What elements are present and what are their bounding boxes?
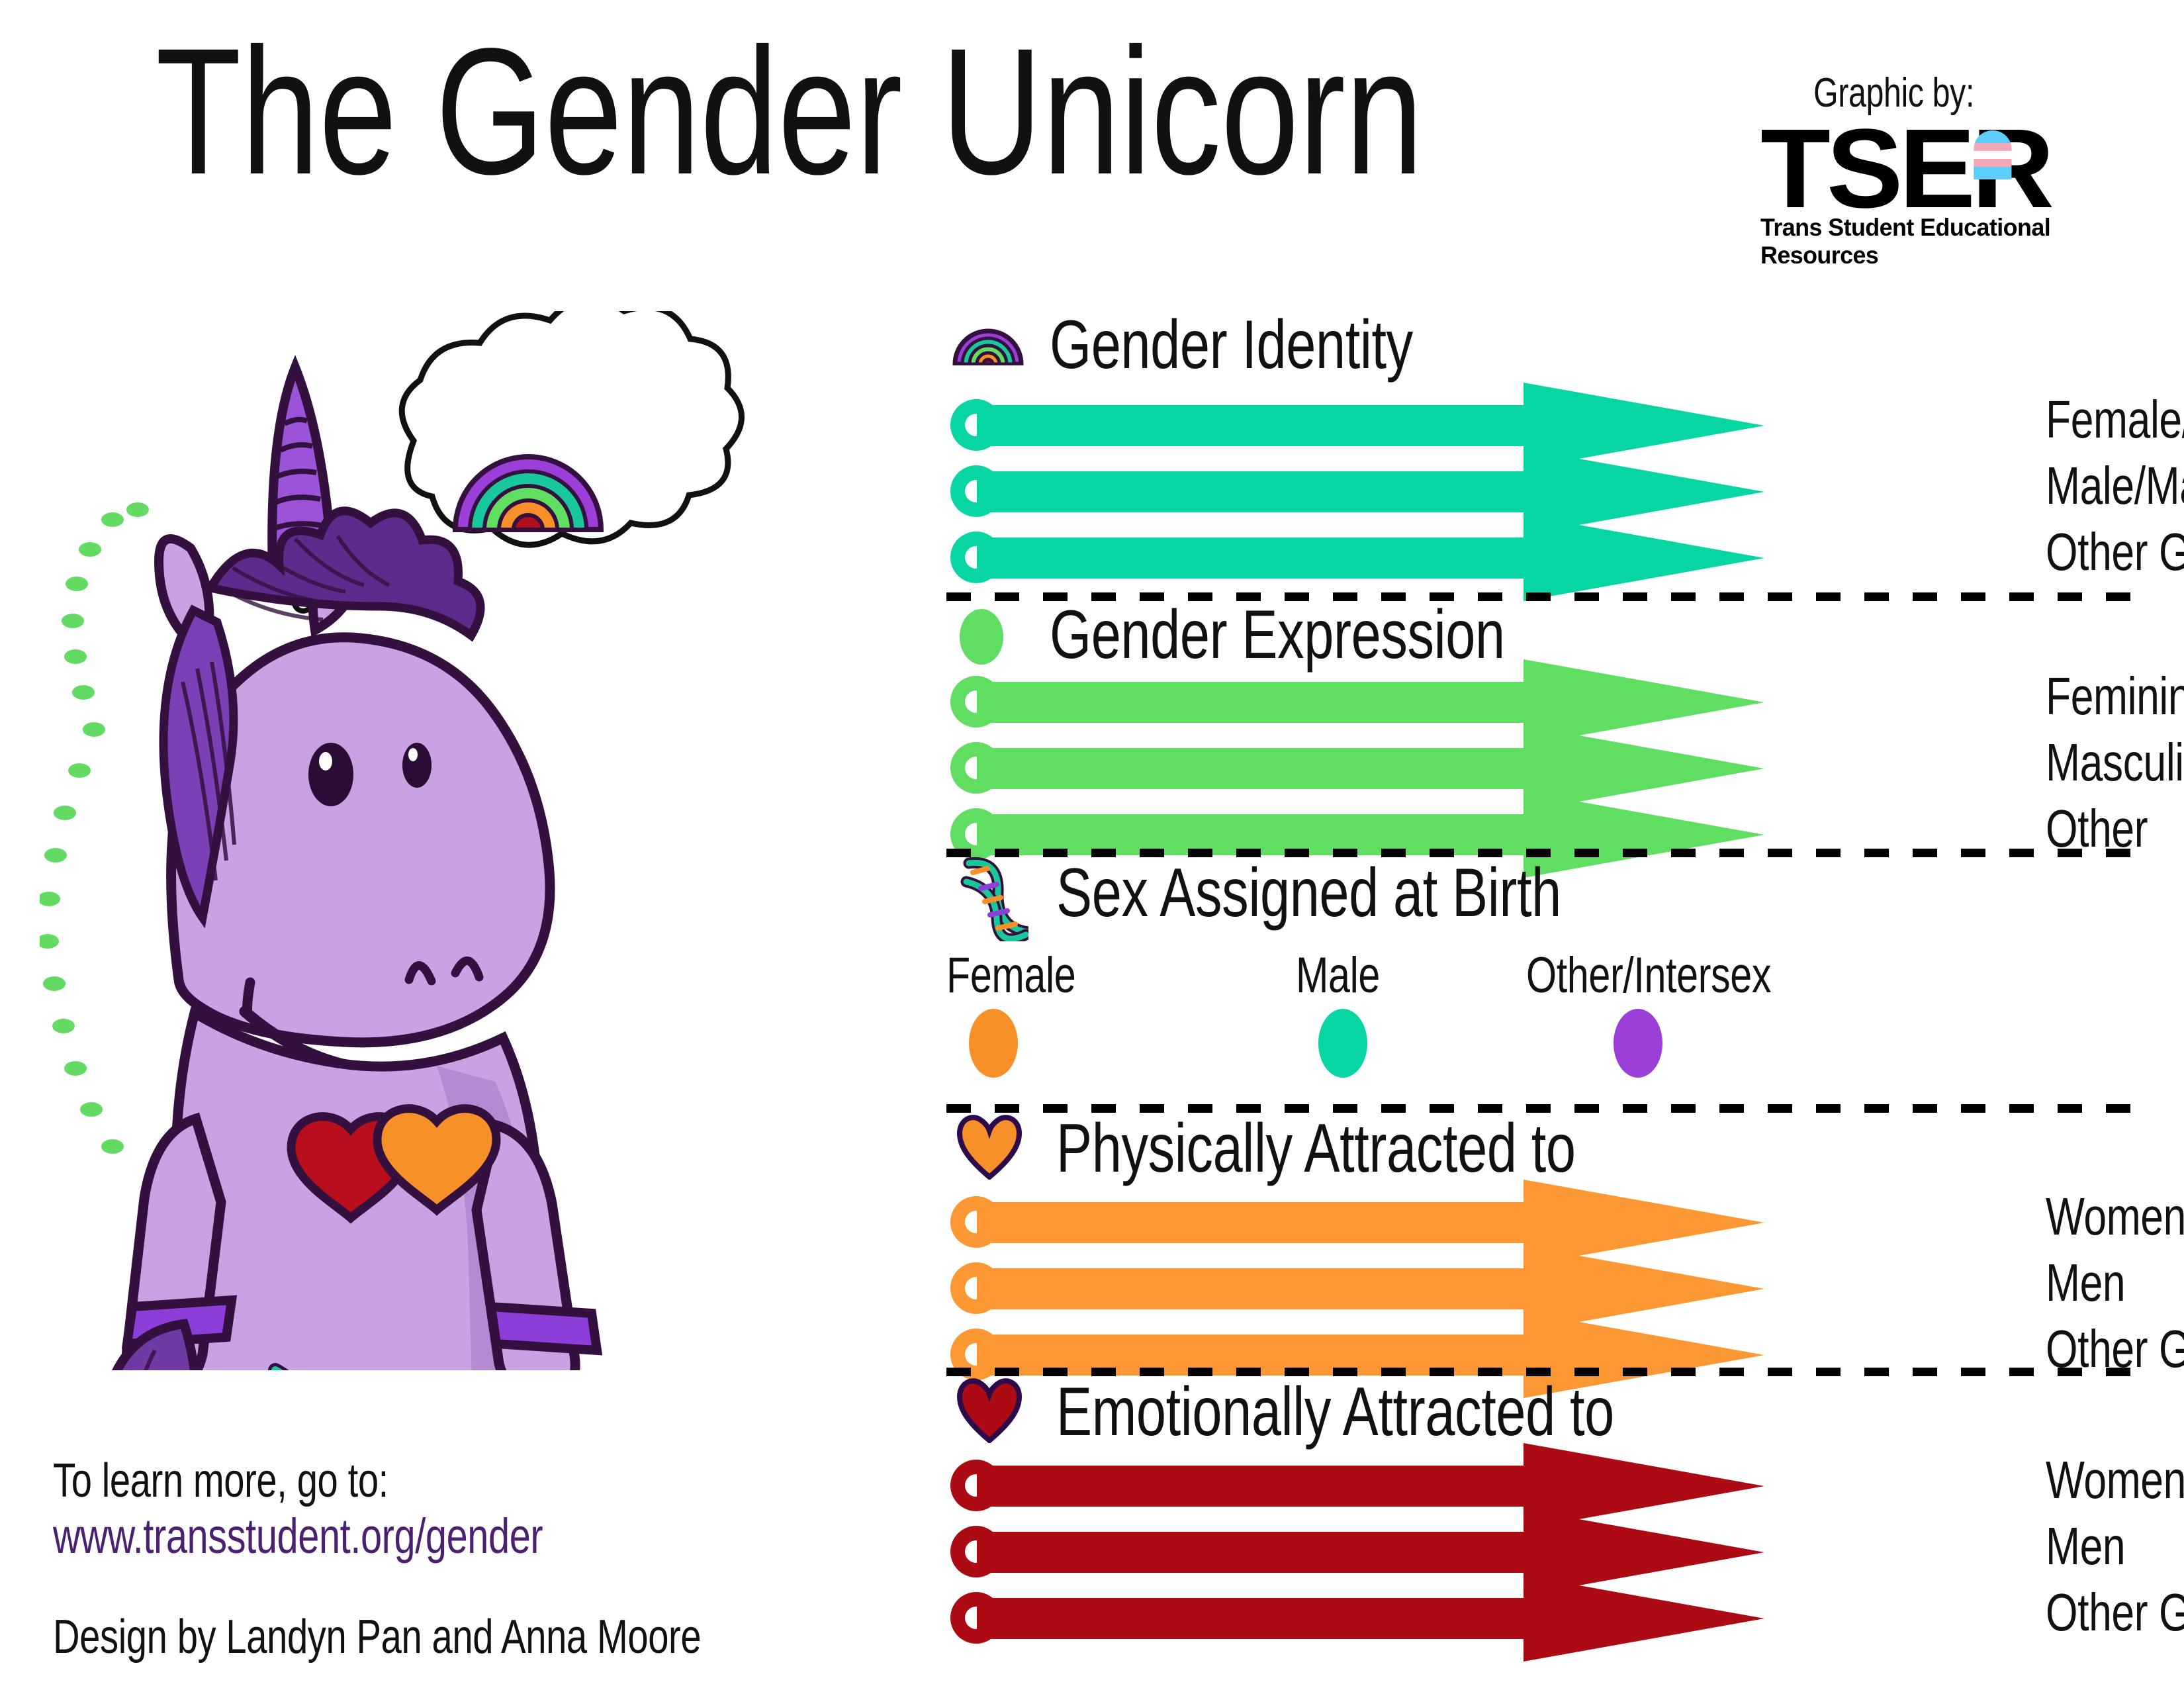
sab-dot-male	[1318, 1009, 1367, 1078]
sab-dot-female	[969, 1009, 1018, 1078]
arrow-head	[1524, 1575, 1764, 1662]
section-title-gender-identity: Gender Identity	[1050, 306, 1413, 385]
arrow-shaft	[977, 1202, 1527, 1243]
arrow-row: Men	[950, 1268, 2036, 1309]
arrow-label: Female/Woman/Girl	[2046, 389, 2184, 450]
unicorn-eye-left	[308, 743, 353, 806]
arrow-shaft	[977, 1532, 1527, 1573]
page-title: The Gender Unicorn	[156, 21, 1423, 201]
arrow-label: Masculine	[2046, 732, 2184, 793]
website-link[interactable]: www.transstudent.org/gender	[53, 1508, 543, 1564]
rainbow-icon	[952, 312, 1024, 369]
arrow-label: Feminine	[2046, 666, 2184, 727]
arrow-row: Other Gender(s)	[950, 538, 2036, 579]
arrow-row: Feminine	[950, 682, 2036, 723]
unicorn-mane-top	[210, 511, 480, 635]
unicorn-cuff-right	[491, 1307, 597, 1350]
arrow-row: Women	[950, 1202, 2036, 1243]
red-heart-icon	[954, 1376, 1024, 1446]
arrow-shaft	[977, 471, 1527, 512]
tser-logo: TSER Trans Student Educational Resources	[1760, 116, 2105, 269]
arrow-row: Female/Woman/Girl	[950, 405, 2036, 446]
arrow-row: Men	[950, 1532, 2036, 1573]
arrow-label: Male/Man/Boy	[2046, 455, 2184, 516]
trans-flag-icon	[1974, 130, 2011, 179]
arrow-shaft	[977, 748, 1527, 789]
dna-icon	[956, 855, 1028, 945]
section-title-gender-expression: Gender Expression	[1050, 596, 1505, 675]
arrow-shaft	[977, 682, 1527, 723]
arrow-label: Men	[2046, 1252, 2125, 1313]
arrow-row: Other Gender(s)	[950, 1598, 2036, 1639]
arrow-shaft	[977, 1598, 1527, 1639]
section-title-sex-assigned-at-birth: Sex Assigned at Birth	[1056, 854, 1561, 933]
arrow-label: Women	[2046, 1186, 2184, 1247]
arrow-shaft	[977, 538, 1527, 579]
tser-fullname: Trans Student Educational Resources	[1760, 214, 2094, 269]
sab-label-other-intersex: Other/Intersex	[1526, 947, 1771, 1004]
arrow-shaft	[977, 405, 1527, 446]
arrow-label: Women	[2046, 1450, 2184, 1511]
sab-label-female: Female	[946, 947, 1075, 1004]
unicorn-eye-right	[402, 743, 432, 788]
arrow-label: Men	[2046, 1516, 2125, 1577]
design-credit: Design by Landyn Pan and Anna Moore	[53, 1610, 701, 1664]
section-title-emotionally-attracted-to: Emotionally Attracted to	[1056, 1373, 1614, 1452]
learn-more-label: To learn more, go to:	[53, 1454, 388, 1508]
tser-acronym: TSER	[1760, 116, 2111, 223]
unicorn-illustration	[40, 311, 920, 1370]
sab-dot-other-intersex	[1614, 1009, 1662, 1078]
green-dot-arc	[40, 502, 149, 1154]
arrow-label: Other Gender(s)	[2046, 1582, 2184, 1643]
green-circle-icon	[960, 609, 1003, 665]
arrow-shaft	[977, 1466, 1527, 1507]
section-title-physically-attracted-to: Physically Attracted to	[1056, 1109, 1576, 1188]
arrow-shaft	[977, 1268, 1527, 1309]
arrow-row: Women	[950, 1466, 2036, 1507]
arrow-row: Masculine	[950, 748, 2036, 789]
orange-heart-icon	[954, 1112, 1024, 1183]
arrow-head	[1524, 515, 1764, 601]
arrow-row: Male/Man/Boy	[950, 471, 2036, 512]
arrow-label: Other Gender(s)	[2046, 522, 2184, 583]
sab-label-male: Male	[1296, 947, 1380, 1004]
